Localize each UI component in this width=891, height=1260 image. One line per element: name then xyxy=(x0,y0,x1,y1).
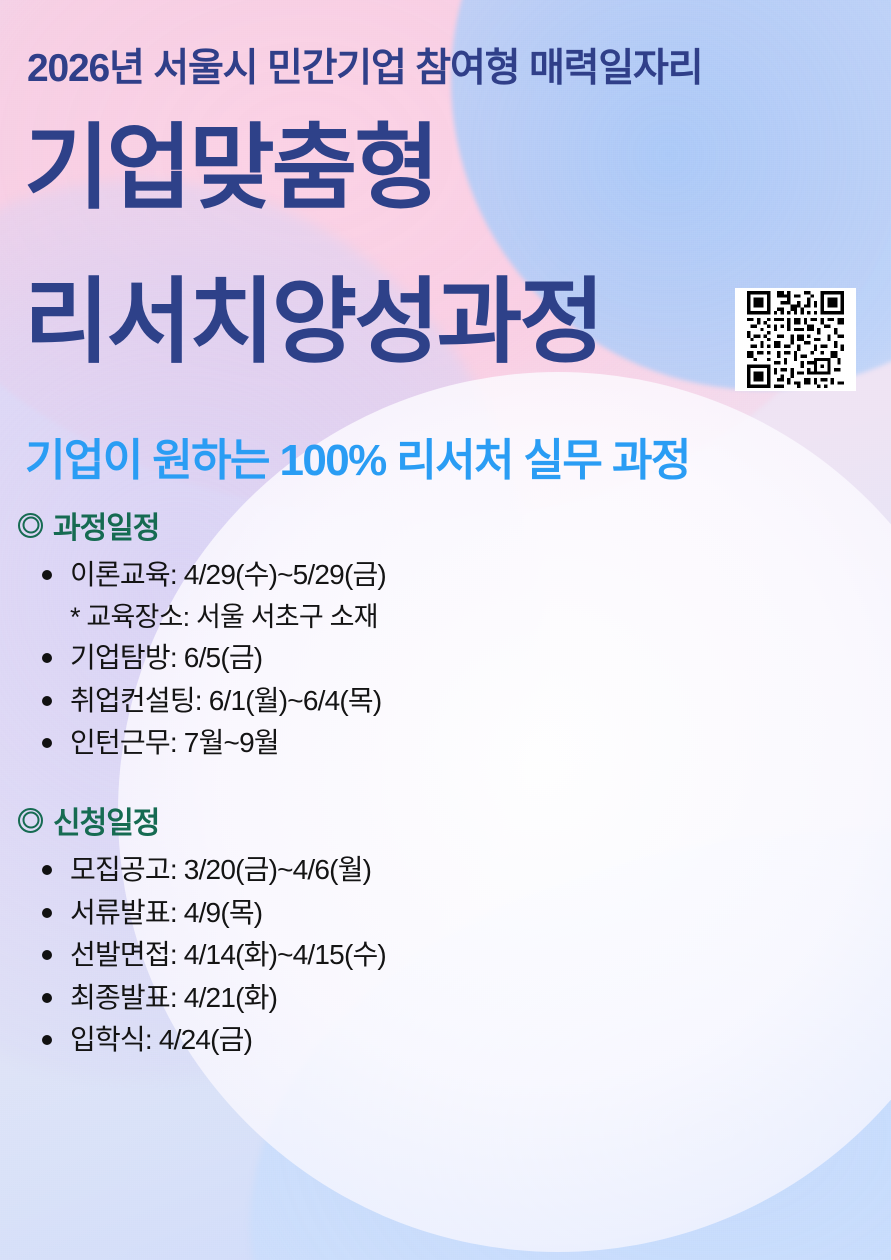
list-item-note: * 교육장소: 서울 서초구 소재 xyxy=(0,597,640,638)
list-item-label: 기업탐방: 6/5(금) xyxy=(70,637,262,680)
bullet-icon xyxy=(42,653,52,663)
bullet-icon xyxy=(42,908,52,918)
section-header: 신청일정 xyxy=(18,798,640,842)
poster-subtitle: 기업이 원하는 100% 리서처 실무 과정 xyxy=(25,424,690,488)
schedule-list: 이론교육: 4/29(수)~5/29(금) * 교육장소: 서울 서초구 소재 … xyxy=(0,554,640,765)
application-list: 모집공고: 3/20(금)~4/6(월) 서류발표: 4/9(목) 선발면접: … xyxy=(0,849,640,1062)
list-item: 기업탐방: 6/5(금) xyxy=(0,637,640,680)
section-title: 과정일정 xyxy=(53,503,159,547)
list-item: 입학식: 4/24(금) xyxy=(0,1019,640,1062)
list-item-label: 선발면접: 4/14(화)~4/15(수) xyxy=(70,934,386,977)
bullet-icon xyxy=(42,696,52,706)
section-header: 과정일정 xyxy=(18,503,640,547)
bullet-icon xyxy=(42,738,52,748)
bullet-icon xyxy=(42,1035,52,1045)
bullet-icon xyxy=(42,570,52,580)
bullet-icon xyxy=(42,993,52,1003)
poster-kicker: 2026년 서울시 민간기업 참여형 매력일자리 xyxy=(27,37,702,93)
bullet-icon xyxy=(42,865,52,875)
list-item-label: 최종발표: 4/21(화) xyxy=(70,977,277,1020)
list-item: 이론교육: 4/29(수)~5/29(금) xyxy=(0,554,640,597)
list-item-label: 모집공고: 3/20(금)~4/6(월) xyxy=(70,849,371,892)
list-item-label: 인턴근무: 7월~9월 xyxy=(70,722,279,765)
list-item: 최종발표: 4/21(화) xyxy=(0,977,640,1020)
list-item-label: 입학식: 4/24(금) xyxy=(70,1019,252,1062)
poster-canvas: 2026년 서울시 민간기업 참여형 매력일자리 기업맞춤형 리서치양성과정 기… xyxy=(0,0,891,1260)
list-item: 취업컨설팅: 6/1(월)~6/4(목) xyxy=(0,680,640,723)
list-item: 서류발표: 4/9(목) xyxy=(0,892,640,935)
qr-code[interactable] xyxy=(735,288,856,391)
list-item-label: 이론교육: 4/29(수)~5/29(금) xyxy=(70,554,386,597)
section-title: 신청일정 xyxy=(53,798,159,842)
double-circle-icon xyxy=(18,513,43,538)
poster-title-line1: 기업맞춤형 xyxy=(24,122,437,215)
double-circle-icon xyxy=(18,808,43,833)
list-item: 인턴근무: 7월~9월 xyxy=(0,722,640,765)
list-item: 선발면접: 4/14(화)~4/15(수) xyxy=(0,934,640,977)
section-application-schedule: 신청일정 모집공고: 3/20(금)~4/6(월) 서류발표: 4/9(목) 선… xyxy=(0,798,640,1062)
list-item: 모집공고: 3/20(금)~4/6(월) xyxy=(0,849,640,892)
list-item-label: 취업컨설팅: 6/1(월)~6/4(목) xyxy=(70,680,381,723)
list-item-label: 서류발표: 4/9(목) xyxy=(70,892,262,935)
section-course-schedule: 과정일정 이론교육: 4/29(수)~5/29(금) * 교육장소: 서울 서초… xyxy=(0,503,640,765)
poster-title-line2: 리서치양성과정 xyxy=(24,276,602,369)
bullet-icon xyxy=(42,950,52,960)
